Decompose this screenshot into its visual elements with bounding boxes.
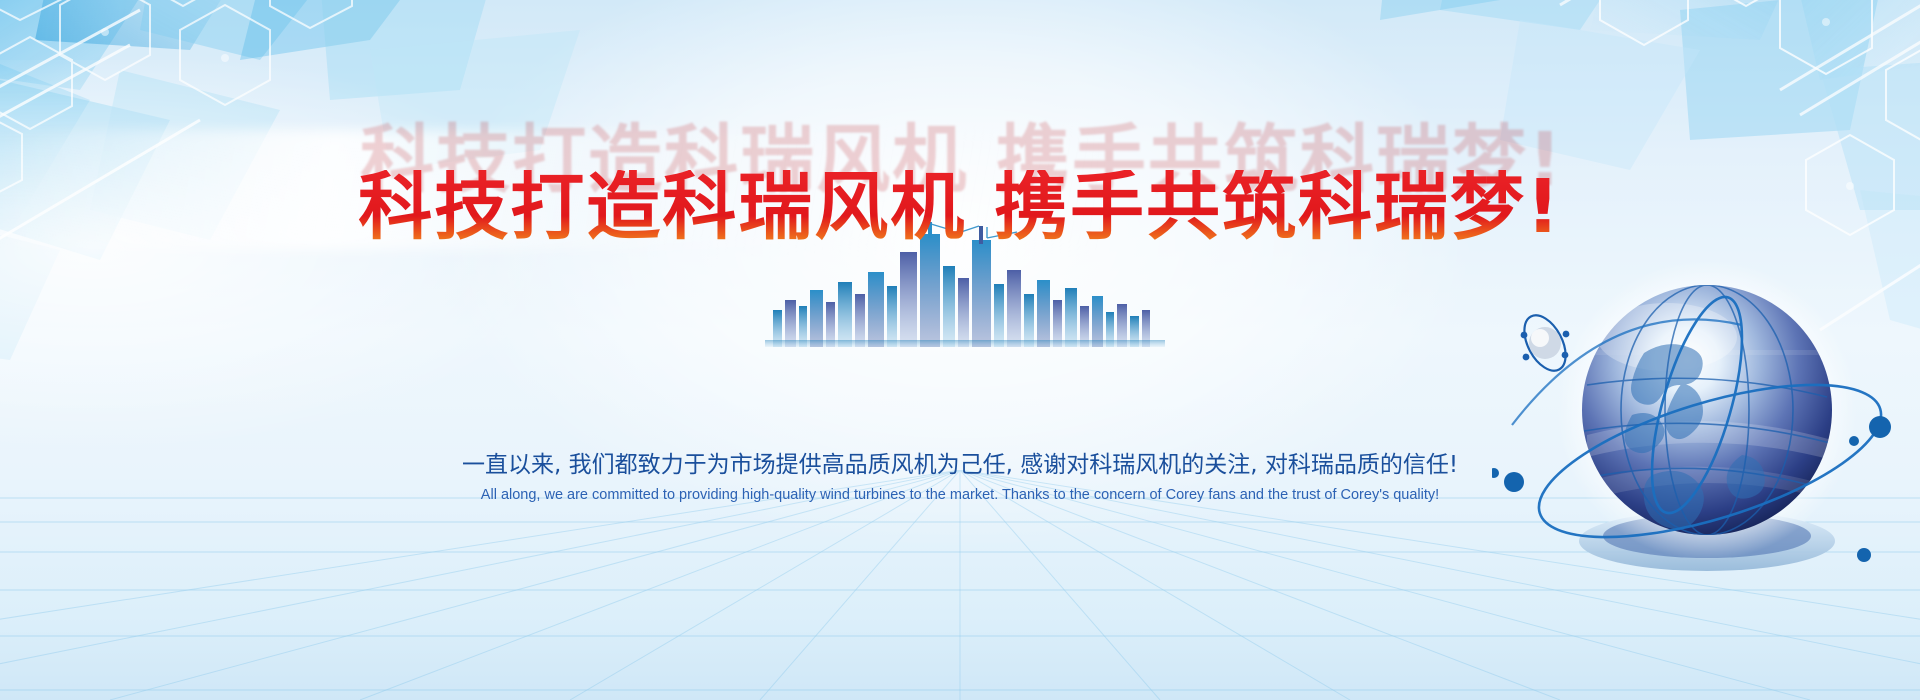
page-title: 科技打造科瑞风机 携手共筑科瑞梦! xyxy=(0,170,1920,244)
globe-illustration xyxy=(1492,255,1912,600)
subtitle-chinese: 一直以来, 我们都致力于为市场提供高品质风机为己任, 感谢对科瑞风机的关注, 对… xyxy=(0,449,1920,481)
subtitle-english: All along, we are committed to providing… xyxy=(0,485,1920,505)
promo-banner: 科技打造科瑞风机 携手共筑科瑞梦! 科技打造科瑞风机 携手共筑科瑞梦! 一直以来… xyxy=(0,0,1920,700)
